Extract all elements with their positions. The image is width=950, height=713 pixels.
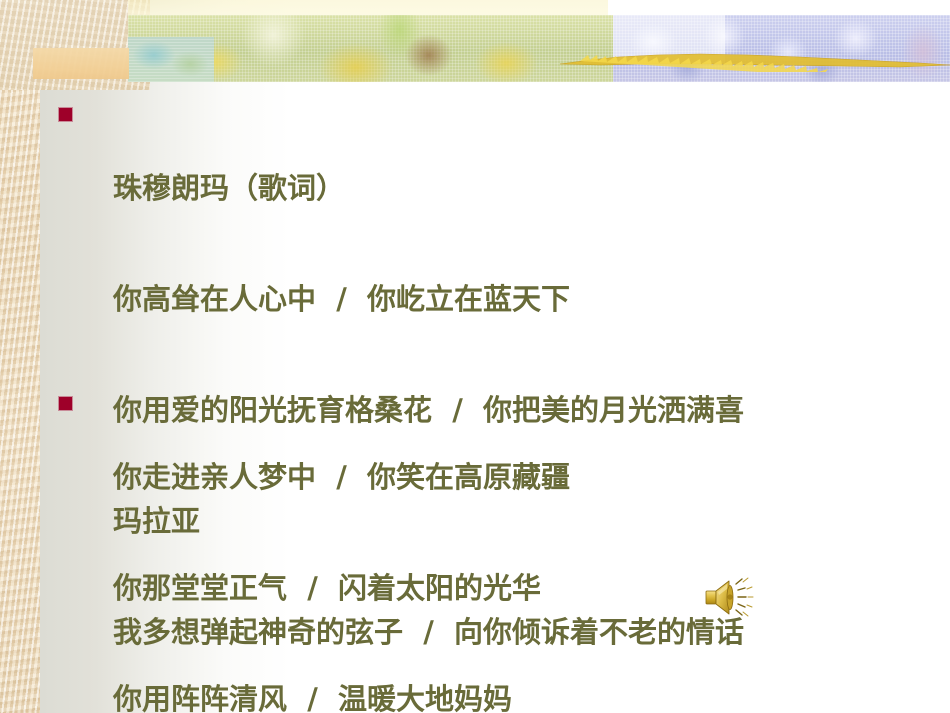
- bullet-square-icon: [58, 396, 73, 411]
- lyric-line: 你用阵阵清风 / 温暖大地妈妈: [113, 681, 744, 713]
- lyric-group-2: 你走进亲人梦中 / 你笑在高原藏疆 你那堂堂正气 / 闪着太阳的光华 你用阵阵清…: [113, 385, 744, 713]
- bullet-square-icon: [58, 107, 73, 122]
- bullet-block-2: 你走进亲人梦中 / 你笑在高原藏疆 你那堂堂正气 / 闪着太阳的光华 你用阵阵清…: [58, 385, 744, 713]
- slide-canvas: 珠穆朗玛（歌词） 你高耸在人心中 / 你屹立在蓝天下 你用爱的阳光抚育格桑花 /…: [0, 0, 950, 713]
- lyric-line: 你高耸在人心中 / 你屹立在蓝天下: [113, 281, 744, 318]
- lyric-line: 珠穆朗玛（歌词）: [113, 170, 744, 207]
- lyric-line: 你那堂堂正气 / 闪着太阳的光华: [113, 570, 744, 607]
- lyric-line: 你走进亲人梦中 / 你笑在高原藏疆: [113, 459, 744, 496]
- slide-content: 珠穆朗玛（歌词） 你高耸在人心中 / 你屹立在蓝天下 你用爱的阳光抚育格桑花 /…: [0, 0, 950, 713]
- speaker-icon[interactable]: [703, 576, 759, 618]
